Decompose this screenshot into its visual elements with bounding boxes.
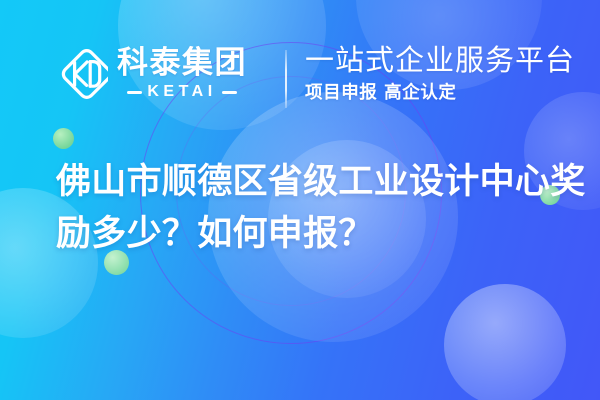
headline-line-1: 佛山市顺德区省级工业设计中心奖: [56, 157, 576, 209]
decorative-green-dot: [53, 128, 74, 149]
brand-logo[interactable]: 科泰集团 KETAI: [56, 48, 247, 100]
headline: 佛山市顺德区省级工业设计中心奖 励多少？如何申报？: [56, 157, 576, 261]
promo-banner: 科泰集团 KETAI 一站式企业服务平台 项目申报 高企认定 佛山市顺德区省级工…: [0, 0, 600, 400]
dash-right-icon: [222, 91, 237, 94]
banner-header: 科泰集团 KETAI 一站式企业服务平台 项目申报 高企认定: [0, 44, 600, 114]
brand-name-cn: 科泰集团: [117, 48, 247, 79]
decorative-circle: [444, 284, 566, 400]
vertical-divider: [285, 50, 287, 108]
slogan-primary: 一站式企业服务平台: [305, 44, 575, 78]
brand-wordmark: 科泰集团 KETAI: [117, 48, 247, 100]
slogan-block: 一站式企业服务平台 项目申报 高企认定: [305, 44, 575, 104]
ketai-kd-monogram-icon: [56, 48, 108, 100]
dash-left-icon: [127, 91, 142, 94]
headline-line-2: 励多少？如何申报？: [56, 209, 576, 261]
slogan-secondary: 项目申报 高企认定: [305, 83, 575, 104]
brand-name-en-row: KETAI: [117, 84, 247, 100]
brand-name-en: KETAI: [147, 84, 216, 100]
